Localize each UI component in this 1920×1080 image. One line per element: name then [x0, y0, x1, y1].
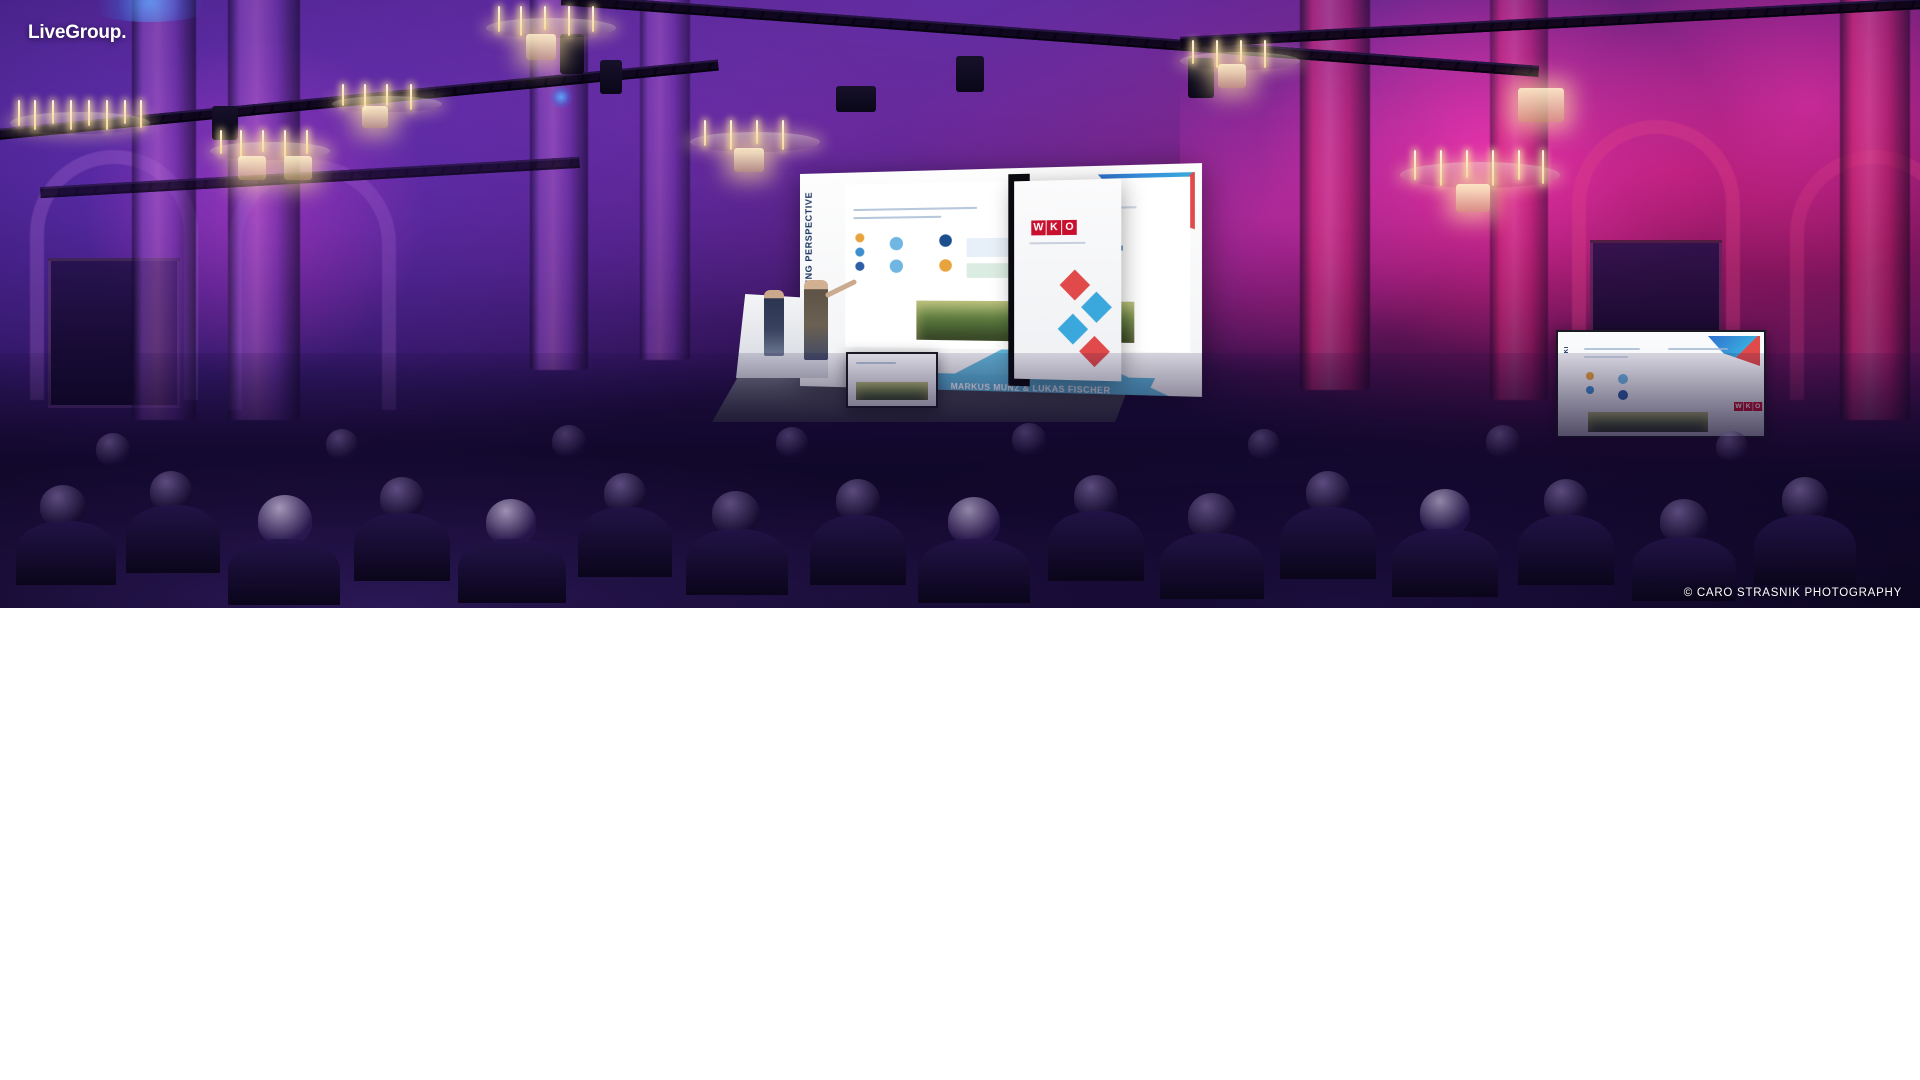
audience — [0, 353, 1920, 608]
wko-logo: W K O — [1031, 220, 1076, 236]
chandelier-3 — [486, 6, 616, 66]
blue-spotlight — [548, 86, 574, 108]
stage-side-panel: W K O — [1014, 179, 1121, 382]
stage-light-4 — [836, 86, 876, 112]
wko-letter-w: W — [1031, 220, 1045, 235]
speaker-person-2 — [804, 280, 828, 360]
column-4 — [640, 0, 690, 360]
wko-letter-k: K — [1047, 220, 1062, 235]
stage-light-5 — [956, 56, 984, 92]
wko-letter-o: O — [1062, 220, 1077, 235]
content-section: 2024 | CORPORATE EVENT | HOFBURG WIEN AU… — [0, 608, 1920, 1080]
livegroup-logo[interactable]: LiveGroup. — [28, 22, 126, 44]
chandelier-4 — [332, 84, 442, 140]
event-photo: CHANGING PERSPECTIVE — [0, 0, 1920, 608]
chandelier-8 — [1506, 88, 1616, 138]
photo-credit: © CARO STRASNIK PHOTOGRAPHY — [1684, 587, 1902, 599]
chandelier-2 — [210, 130, 330, 190]
speaker-person-1 — [764, 290, 784, 356]
hero-banner: CHANGING PERSPECTIVE — [0, 0, 1920, 608]
chandelier-1 — [10, 100, 150, 170]
chandelier-7 — [1180, 40, 1300, 96]
